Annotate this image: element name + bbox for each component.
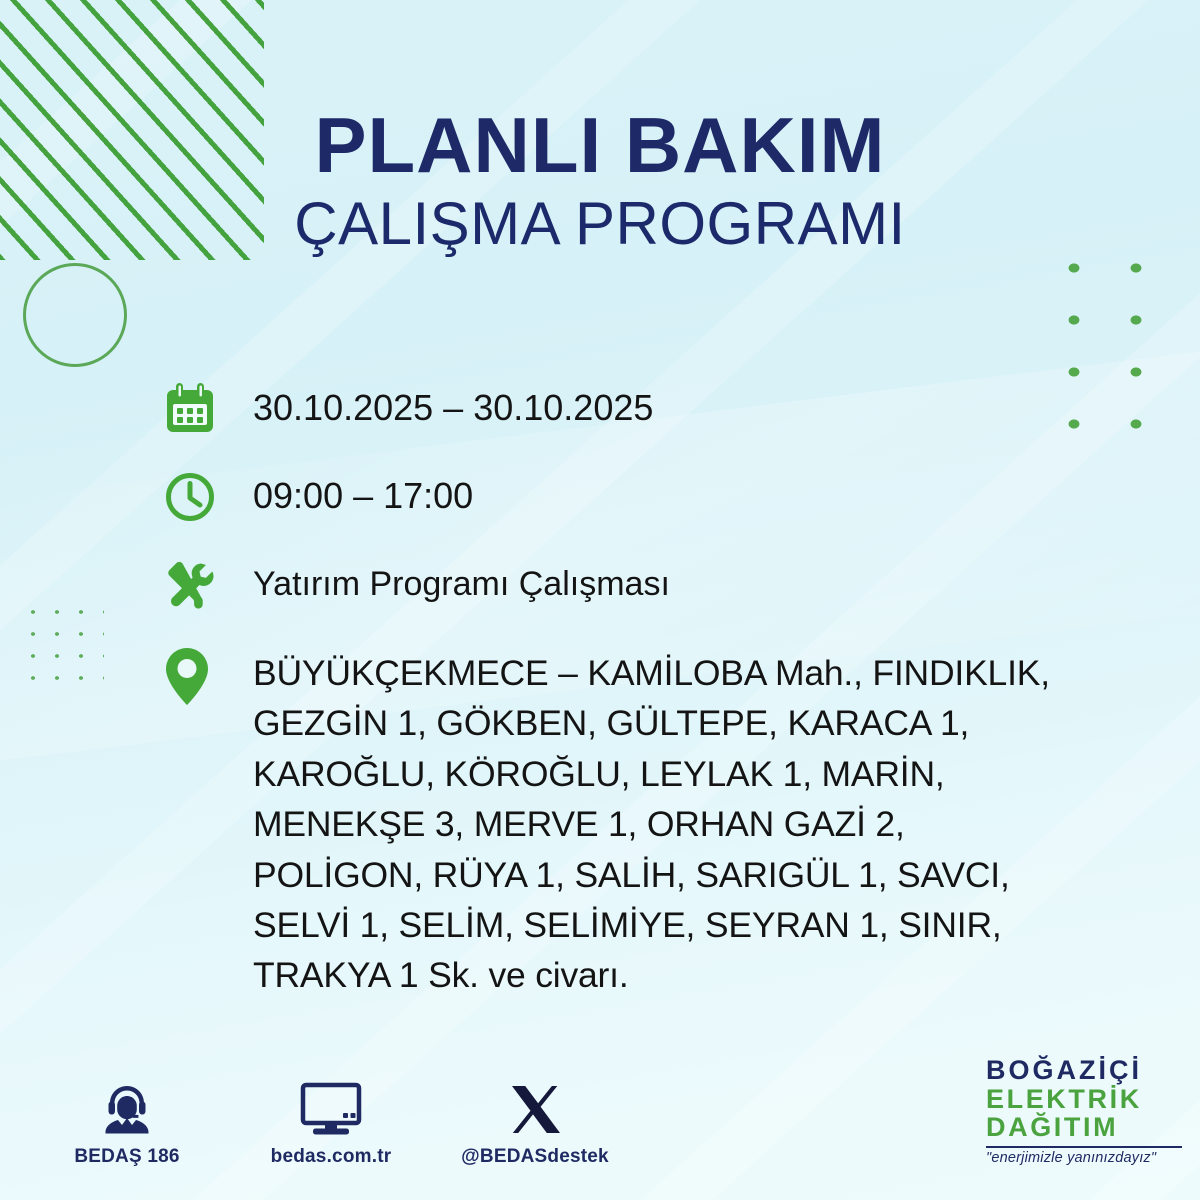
brand-line-2: ELEKTRİK	[986, 1085, 1186, 1114]
page-subtitle: ÇALIŞMA PROGRAMI	[0, 194, 1200, 254]
time-range-value: 09:00 – 17:00	[227, 466, 1063, 522]
contact-social-label: @BEDASdestek	[460, 1146, 610, 1168]
contact-list: BEDAŞ 186 bedas.com.tr	[52, 1076, 610, 1168]
brand-line-1: BOĞAZİÇİ	[986, 1056, 1186, 1085]
info-row-location: BÜYÜKÇEKMECE – KAMİLOBA Mah., FINDIKLIK,…	[163, 646, 1063, 1001]
location-pin-icon	[163, 646, 227, 708]
contact-item-social[interactable]: @BEDASdestek	[460, 1076, 610, 1168]
page-title: PLANLI BAKIM	[0, 110, 1200, 182]
info-row-time: 09:00 – 17:00	[163, 466, 1063, 528]
x-twitter-icon	[460, 1076, 610, 1138]
poster-header: PLANLI BAKIM ÇALIŞMA PROGRAMI	[0, 110, 1200, 254]
brand-tagline: "enerjimizle yanınızdayız"	[986, 1150, 1186, 1166]
calendar-icon	[163, 378, 227, 440]
dot-grid-left-decoration	[18, 598, 104, 688]
clock-icon	[163, 466, 227, 528]
circle-outline-decoration	[23, 263, 127, 367]
company-logo: BOĞAZİÇİ ELEKTRİK DAĞITIM "enerjimizle y…	[986, 1056, 1186, 1166]
work-type-value: Yatırım Programı Çalışması	[227, 554, 1063, 609]
brand-line-3: DAĞITIM	[986, 1113, 1186, 1142]
contact-item-website[interactable]: bedas.com.tr	[256, 1076, 406, 1168]
contact-phone-label: BEDAŞ 186	[52, 1146, 202, 1168]
info-list: 30.10.2025 – 30.10.2025 09:00 – 17:00	[163, 378, 1063, 1023]
poster-footer: BEDAŞ 186 bedas.com.tr	[0, 1028, 1200, 1178]
brand-divider	[986, 1146, 1182, 1148]
monitor-icon	[256, 1076, 406, 1138]
contact-item-phone[interactable]: BEDAŞ 186	[52, 1076, 202, 1168]
affected-area-value: BÜYÜKÇEKMECE – KAMİLOBA Mah., FINDIKLIK,…	[227, 646, 1063, 1001]
contact-website-label: bedas.com.tr	[256, 1146, 406, 1168]
date-range-value: 30.10.2025 – 30.10.2025	[227, 378, 1063, 434]
info-row-work-type: Yatırım Programı Çalışması	[163, 554, 1063, 616]
info-row-date: 30.10.2025 – 30.10.2025	[163, 378, 1063, 440]
tools-icon	[163, 554, 227, 616]
headset-agent-icon	[52, 1076, 202, 1138]
planned-maintenance-poster: PLANLI BAKIM ÇALIŞMA PROGRAMI	[0, 0, 1200, 1200]
